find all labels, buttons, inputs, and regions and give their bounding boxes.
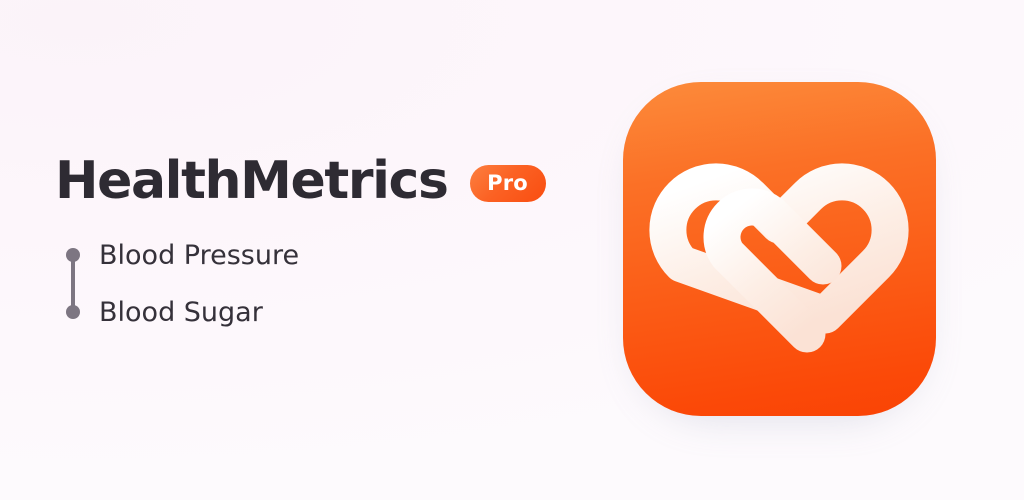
- feature-connector-line: [71, 255, 75, 312]
- bullet-dot-icon: [66, 248, 80, 262]
- app-icon: [623, 82, 936, 416]
- feature-label: Blood Sugar: [99, 299, 263, 326]
- page-title: HealthMetrics: [55, 155, 448, 207]
- promo-banner: HealthMetrics Pro Blood Pressure Blood S…: [0, 0, 1024, 500]
- feature-label: Blood Pressure: [99, 242, 299, 269]
- pro-badge: Pro: [470, 165, 546, 202]
- feature-list: Blood Pressure Blood Sugar: [55, 238, 575, 329]
- title-row: HealthMetrics Pro: [55, 150, 575, 212]
- list-item: Blood Pressure: [55, 238, 575, 272]
- app-icon-container: [623, 82, 936, 416]
- heart-ribbon-inner-spiral: [722, 207, 823, 334]
- bullet-dot-icon: [66, 305, 80, 319]
- brand-panel: HealthMetrics Pro Blood Pressure Blood S…: [55, 150, 575, 329]
- list-item: Blood Sugar: [55, 295, 575, 329]
